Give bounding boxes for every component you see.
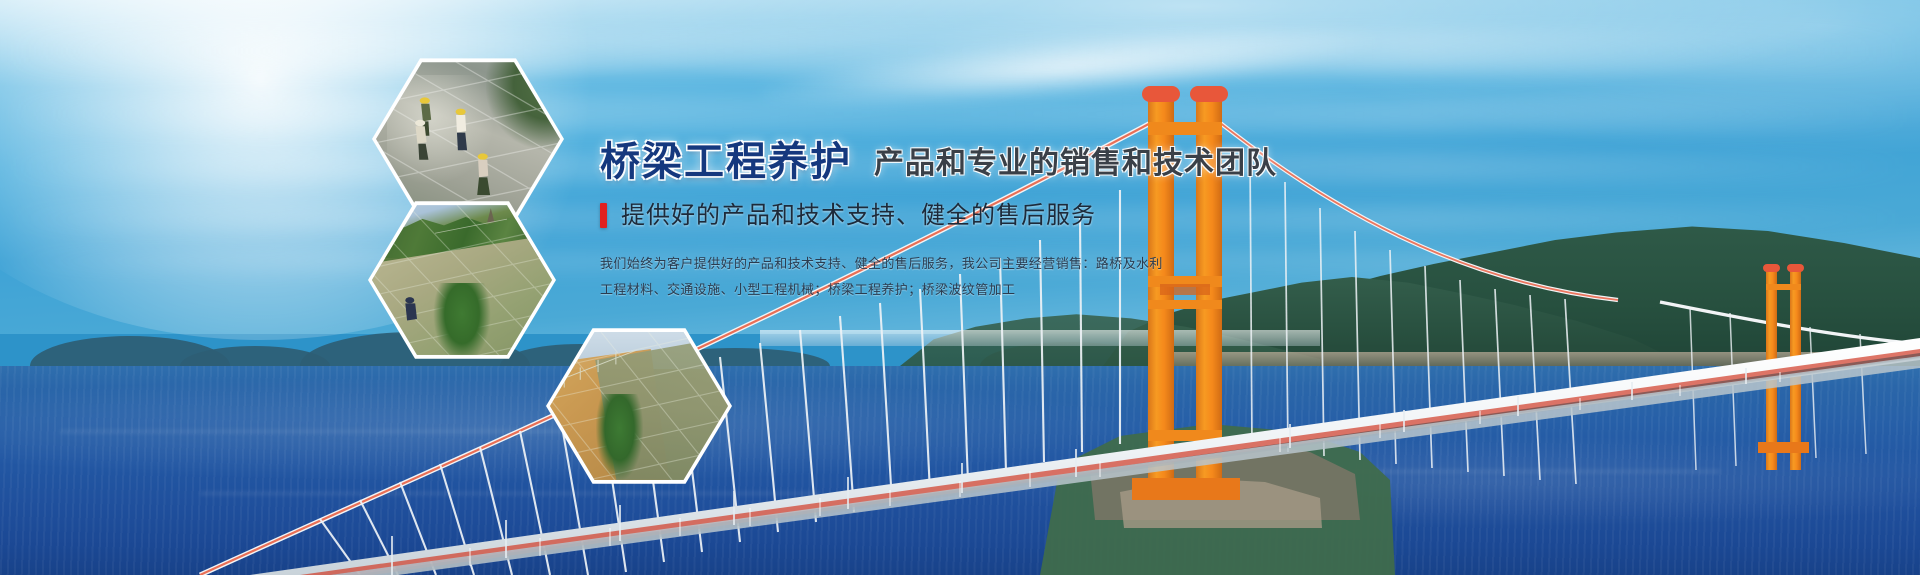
worker: [477, 153, 490, 195]
headline-secondary: 产品和专业的销售和技术团队: [874, 149, 1277, 182]
subheadline-row: 提供好的产品和技术支持、健全的售后服务: [600, 202, 1340, 228]
body-text: 我们始终为客户提供好的产品和技术支持、健全的售后服务，我公司主要经营销售：路桥及…: [600, 252, 1340, 304]
water-streak: [60, 430, 580, 433]
banner-copy: 桥梁工程养护 产品和专业的销售和技术团队 提供好的产品和技术支持、健全的售后服务…: [600, 142, 1340, 304]
hero-banner: 桥梁工程养护 产品和专业的销售和技术团队 提供好的产品和技术支持、健全的售后服务…: [0, 0, 1920, 575]
water-streak: [200, 492, 820, 495]
body-line: 工程材料、交通设施、小型工程机械；桥梁工程养护；桥梁波纹管加工: [600, 278, 1340, 304]
headline-primary: 桥梁工程养护: [600, 142, 852, 182]
water-streak: [1180, 470, 1720, 473]
headline-row: 桥梁工程养护 产品和专业的销售和技术团队: [600, 142, 1340, 182]
body-line: 我们始终为客户提供好的产品和技术支持、健全的售后服务，我公司主要经营销售：路桥及…: [600, 252, 1340, 278]
distant-city-skyline: [760, 330, 1320, 346]
accent-bar: [600, 203, 607, 228]
wispy-cloud: [757, 0, 1524, 149]
subheadline: 提供好的产品和技术支持、健全的售后服务: [621, 202, 1096, 228]
worker: [456, 109, 468, 151]
